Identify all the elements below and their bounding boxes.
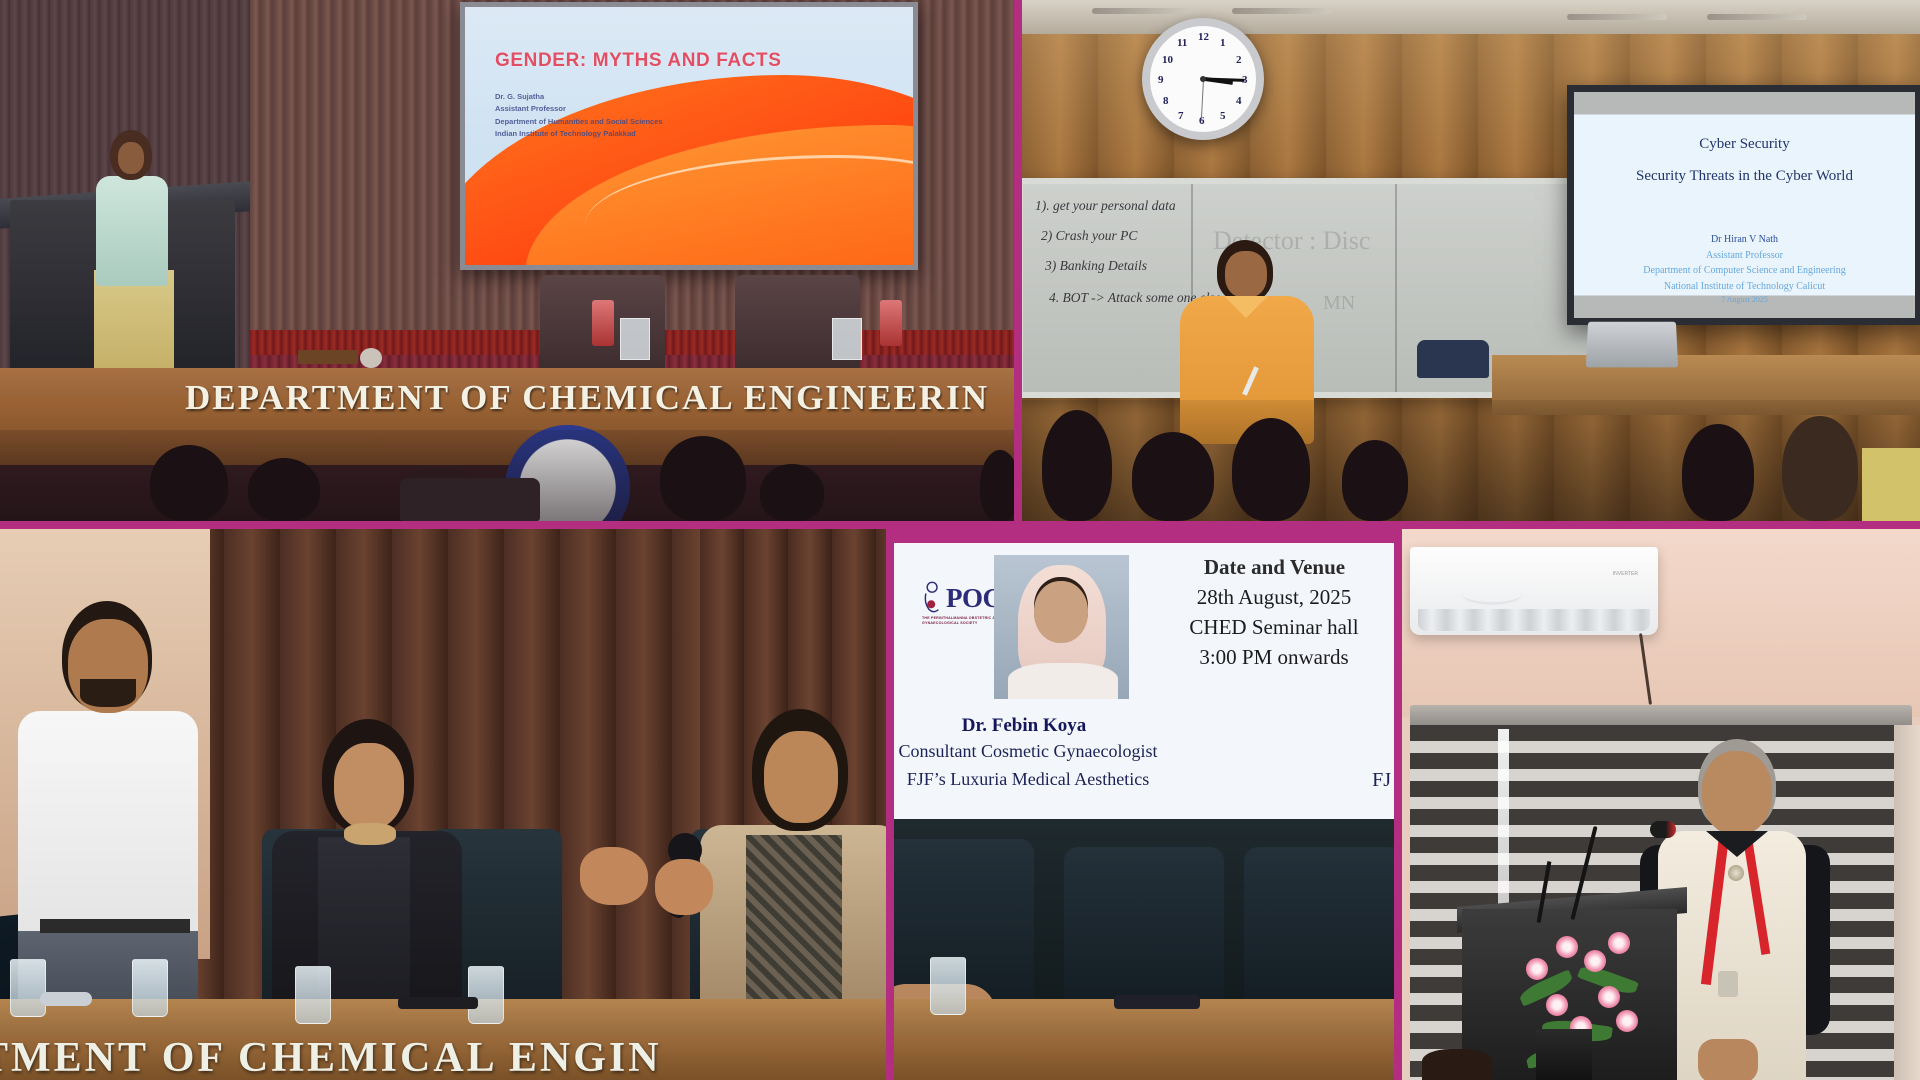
speaker-beard	[80, 679, 136, 707]
audience-head	[660, 436, 746, 521]
photo-collage: GENDER: MYTHS AND FACTS Dr. G. Sujatha A…	[0, 0, 1920, 1080]
clock-number: 11	[1177, 37, 1187, 49]
divider-horizontal	[0, 521, 1920, 529]
whiteboard-note: 3) Banking Details	[1045, 258, 1147, 274]
presenter-attire-upper	[96, 176, 168, 286]
panelist-face	[334, 743, 404, 829]
water-glass	[620, 318, 650, 360]
lecturer-face	[1225, 251, 1267, 298]
audience-silhouettes	[0, 430, 1014, 521]
water-glass	[468, 966, 504, 1024]
audience-head	[150, 445, 228, 521]
audience-head	[760, 464, 824, 521]
slide-presenter-institute: Indian Institute of Technology Palakkad	[495, 128, 663, 140]
microphone-head	[1650, 821, 1676, 838]
slide-title: GENDER: MYTHS AND FACTS	[495, 50, 903, 72]
slide-speaker-role-1: Consultant Cosmetic Gynaecologist	[894, 741, 1162, 762]
clock-face: 12 1 2 3 4 5 6 7 8 9 10 11	[1150, 26, 1256, 132]
ceiling-fan	[1132, 0, 1342, 20]
speaker-clasped-hands	[1698, 1039, 1758, 1080]
department-signage: DEPARTMENT OF CHEMICAL ENGINEERIN	[185, 378, 1014, 418]
gesturing-hand	[580, 847, 648, 905]
smartphone	[1114, 995, 1200, 1009]
audience-head	[1232, 418, 1310, 521]
laptop	[1586, 322, 1678, 368]
air-conditioner: INVERTER	[1410, 547, 1658, 635]
audience-head	[980, 450, 1014, 521]
projector-screen-frame: Cyber Security Security Threats in the C…	[1567, 85, 1920, 325]
slide-presenter-designation: Assistant Professor	[495, 103, 663, 115]
portrait-face	[1034, 581, 1088, 643]
audience-shirt	[1862, 448, 1920, 521]
ceiling-fan	[1607, 6, 1817, 26]
slide-speaker-name: Dr Hiran V Nath	[1574, 232, 1915, 248]
blue-chair	[1417, 340, 1489, 378]
panelist-necklace	[344, 823, 396, 845]
water-glass	[930, 957, 966, 1015]
clock-number: 8	[1163, 95, 1169, 107]
smartphone	[398, 997, 478, 1009]
slide-speaker-institute: National Institute of Technology Calicut	[1574, 279, 1915, 295]
slide-right-partial-text: FJ	[1372, 769, 1391, 792]
slide-venue: CHED Seminar hall	[1156, 615, 1392, 640]
slide-speaker-name: Dr. Febin Koya	[894, 715, 1154, 737]
whiteboard-note: 1). get your personal data	[1035, 198, 1176, 214]
portrait-shoulders	[1008, 663, 1118, 699]
water-glass	[832, 318, 862, 360]
clock-number: 10	[1162, 54, 1173, 66]
divider-vertical-bottom-right	[1394, 529, 1402, 1080]
slide-datevenue-heading: Date and Venue	[1162, 555, 1387, 580]
panel-podium-speaker: INVERTER	[1402, 529, 1920, 1080]
clock-number: 9	[1158, 74, 1164, 86]
pogs-emblem-icon	[922, 581, 944, 615]
clock-center-pin	[1200, 76, 1206, 82]
audience-head	[1132, 432, 1214, 521]
female-presenter	[88, 130, 173, 360]
remote-control	[40, 992, 92, 1006]
ac-decor-swoosh	[1462, 583, 1522, 605]
audience-head	[1042, 410, 1112, 521]
slide-speaker-department: Department of Computer Science and Engin…	[1574, 263, 1915, 279]
panelist-face	[764, 731, 838, 823]
water-glass	[10, 959, 46, 1017]
cyber-security-slide: Cyber Security Security Threats in the C…	[1574, 92, 1915, 318]
audience-head	[1422, 1049, 1492, 1080]
ac-vent-louvers	[1418, 609, 1650, 631]
audience-head	[248, 458, 320, 521]
slide-title: Cyber Security	[1574, 136, 1915, 153]
gavel-block	[298, 350, 358, 364]
slide-top-band	[894, 529, 1394, 543]
wall-clock: 12 1 2 3 4 5 6 7 8 9 10 11	[1142, 18, 1264, 140]
audience-silhouettes	[1022, 400, 1920, 521]
gavel	[360, 348, 382, 368]
water-glass	[132, 959, 168, 1017]
slide-speaker-designation: Assistant Professor	[1574, 248, 1915, 264]
panel-pogs-lecture: POGS THE PERINTHALMANNA OBSTETRIC AND GY…	[894, 529, 1394, 1080]
department-signage: TMENT OF CHEMICAL ENGIN	[0, 1034, 894, 1080]
panel-table-front	[894, 1034, 1394, 1080]
panelist-printed-kurta	[746, 835, 842, 1025]
whiteboard-note: 2) Crash your PC	[1041, 228, 1137, 244]
panel-cyber-security-lecture: 12 1 2 3 4 5 6 7 8 9 10 11 Detector :	[1022, 0, 1920, 521]
flower-vase	[1536, 1029, 1592, 1080]
wall-edge-right	[1894, 725, 1920, 1080]
water-bottle	[592, 300, 614, 346]
seated-panelist-2	[700, 709, 894, 1029]
ac-brand-label: INVERTER	[1613, 571, 1638, 577]
panel-gender-seminar: GENDER: MYTHS AND FACTS Dr. G. Sujatha A…	[0, 0, 1014, 521]
presenter-face	[118, 142, 144, 174]
slide-speaker-block: Dr Hiran V Nath Assistant Professor Depa…	[1574, 232, 1915, 306]
water-bottle	[880, 300, 902, 346]
gesturing-hand	[655, 859, 713, 915]
lapel-pin	[1728, 865, 1744, 881]
audience-head	[1682, 424, 1754, 521]
slide-presenter-department: Department of Humanities and Social Scie…	[495, 116, 663, 128]
presenter-attire-lower	[94, 270, 174, 380]
id-badge	[1718, 971, 1738, 997]
slide-presenter-name: Dr. G. Sujatha	[495, 91, 663, 103]
slide-time: 3:00 PM onwards	[1156, 645, 1392, 670]
clock-number: 1	[1220, 37, 1226, 49]
slide-date: 28th August, 2025	[1156, 585, 1392, 610]
slide-speaker-role-2: FJF’s Luxuria Medical Aesthetics	[894, 769, 1162, 790]
water-glass	[295, 966, 331, 1024]
clock-number: 12	[1198, 31, 1209, 43]
speaker-portrait	[994, 555, 1129, 699]
audience-head	[1342, 440, 1408, 521]
pogs-announcement-slide: POGS THE PERINTHALMANNA OBSTETRIC AND GY…	[894, 529, 1394, 834]
speaker-belt	[40, 919, 190, 933]
slide-presenter-block: Dr. G. Sujatha Assistant Professor Depar…	[495, 91, 663, 141]
projection-screen-frame: GENDER: MYTHS AND FACTS Dr. G. Sujatha A…	[460, 2, 918, 270]
slide-date: 7 August 2025	[1574, 294, 1915, 306]
audience-chair	[400, 478, 540, 521]
audience-head	[1782, 416, 1858, 521]
panelist-drape	[318, 837, 410, 1017]
clock-number: 4	[1236, 95, 1242, 107]
divider-vertical-bottom-left	[886, 529, 894, 1080]
speaker-face	[1702, 751, 1772, 835]
panel-panel-discussion: TMENT OF CHEMICAL ENGIN	[0, 529, 894, 1080]
standing-speaker	[10, 601, 210, 1001]
projection-screen: GENDER: MYTHS AND FACTS Dr. G. Sujatha A…	[465, 7, 913, 265]
clock-number: 2	[1236, 54, 1242, 66]
slide-subtitle: Security Threats in the Cyber World	[1574, 168, 1915, 185]
divider-vertical-top	[1014, 0, 1022, 529]
window-blind-headrail	[1410, 705, 1912, 727]
clock-number: 7	[1178, 110, 1184, 122]
clock-number: 5	[1220, 110, 1226, 122]
